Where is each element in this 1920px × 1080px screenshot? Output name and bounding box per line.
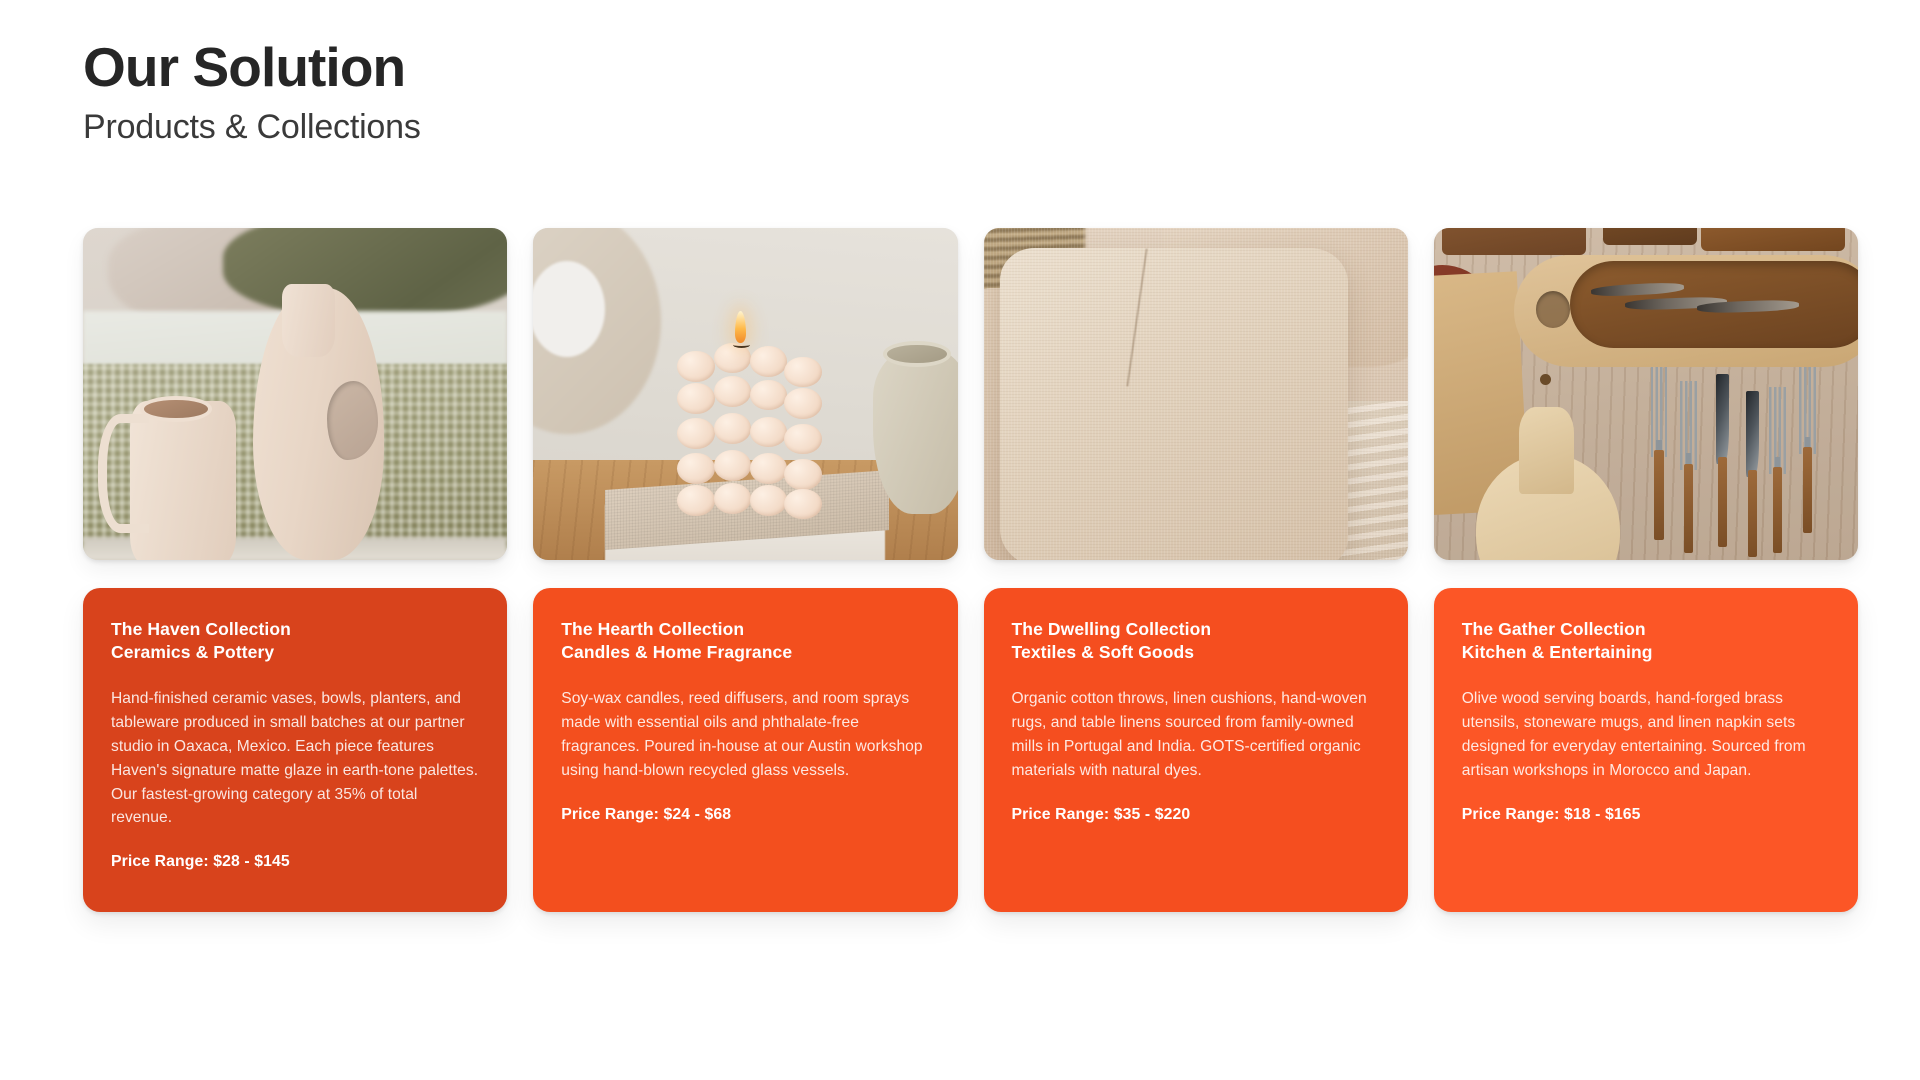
collection-card-hearth[interactable]: The Hearth Collection Candles & Home Fra…: [533, 588, 957, 912]
collection-image-candles: [533, 228, 957, 560]
collections-grid: The Haven Collection Ceramics & Pottery …: [83, 228, 1858, 912]
collection-column-dwelling: The Dwelling Collection Textiles & Soft …: [984, 228, 1408, 912]
collection-title: The Haven Collection: [111, 618, 479, 641]
collection-price-range: Price Range: $28 - $145: [111, 853, 479, 871]
collection-subtitle: Candles & Home Fragrance: [561, 641, 929, 664]
collection-description: Olive wood serving boards, hand-forged b…: [1462, 687, 1830, 782]
collection-image-ceramics: [83, 228, 507, 560]
collection-subtitle: Kitchen & Entertaining: [1462, 641, 1830, 664]
collection-title: The Dwelling Collection: [1012, 618, 1380, 641]
slide-root: Our Solution Products & Collections: [0, 0, 1920, 1080]
slide-header: Our Solution Products & Collections: [83, 38, 421, 147]
page-subtitle: Products & Collections: [83, 108, 421, 147]
collection-image-kitchen: [1434, 228, 1858, 560]
collection-column-gather: The Gather Collection Kitchen & Entertai…: [1434, 228, 1858, 912]
collection-card-gather[interactable]: The Gather Collection Kitchen & Entertai…: [1434, 588, 1858, 912]
collection-price-range: Price Range: $18 - $165: [1462, 806, 1830, 824]
page-title: Our Solution: [83, 38, 421, 97]
collection-price-range: Price Range: $24 - $68: [561, 806, 929, 824]
collection-description: Hand-finished ceramic vases, bowls, plan…: [111, 687, 479, 830]
collection-description: Soy-wax candles, reed diffusers, and roo…: [561, 687, 929, 782]
collection-column-haven: The Haven Collection Ceramics & Pottery …: [83, 228, 507, 912]
collection-description: Organic cotton throws, linen cushions, h…: [1012, 687, 1380, 782]
collection-card-dwelling[interactable]: The Dwelling Collection Textiles & Soft …: [984, 588, 1408, 912]
collection-title: The Hearth Collection: [561, 618, 929, 641]
collection-card-haven[interactable]: The Haven Collection Ceramics & Pottery …: [83, 588, 507, 912]
collection-subtitle: Textiles & Soft Goods: [1012, 641, 1380, 664]
collection-image-textiles: [984, 228, 1408, 560]
collection-subtitle: Ceramics & Pottery: [111, 641, 479, 664]
collection-column-hearth: The Hearth Collection Candles & Home Fra…: [533, 228, 957, 912]
collection-title: The Gather Collection: [1462, 618, 1830, 641]
collection-price-range: Price Range: $35 - $220: [1012, 806, 1380, 824]
